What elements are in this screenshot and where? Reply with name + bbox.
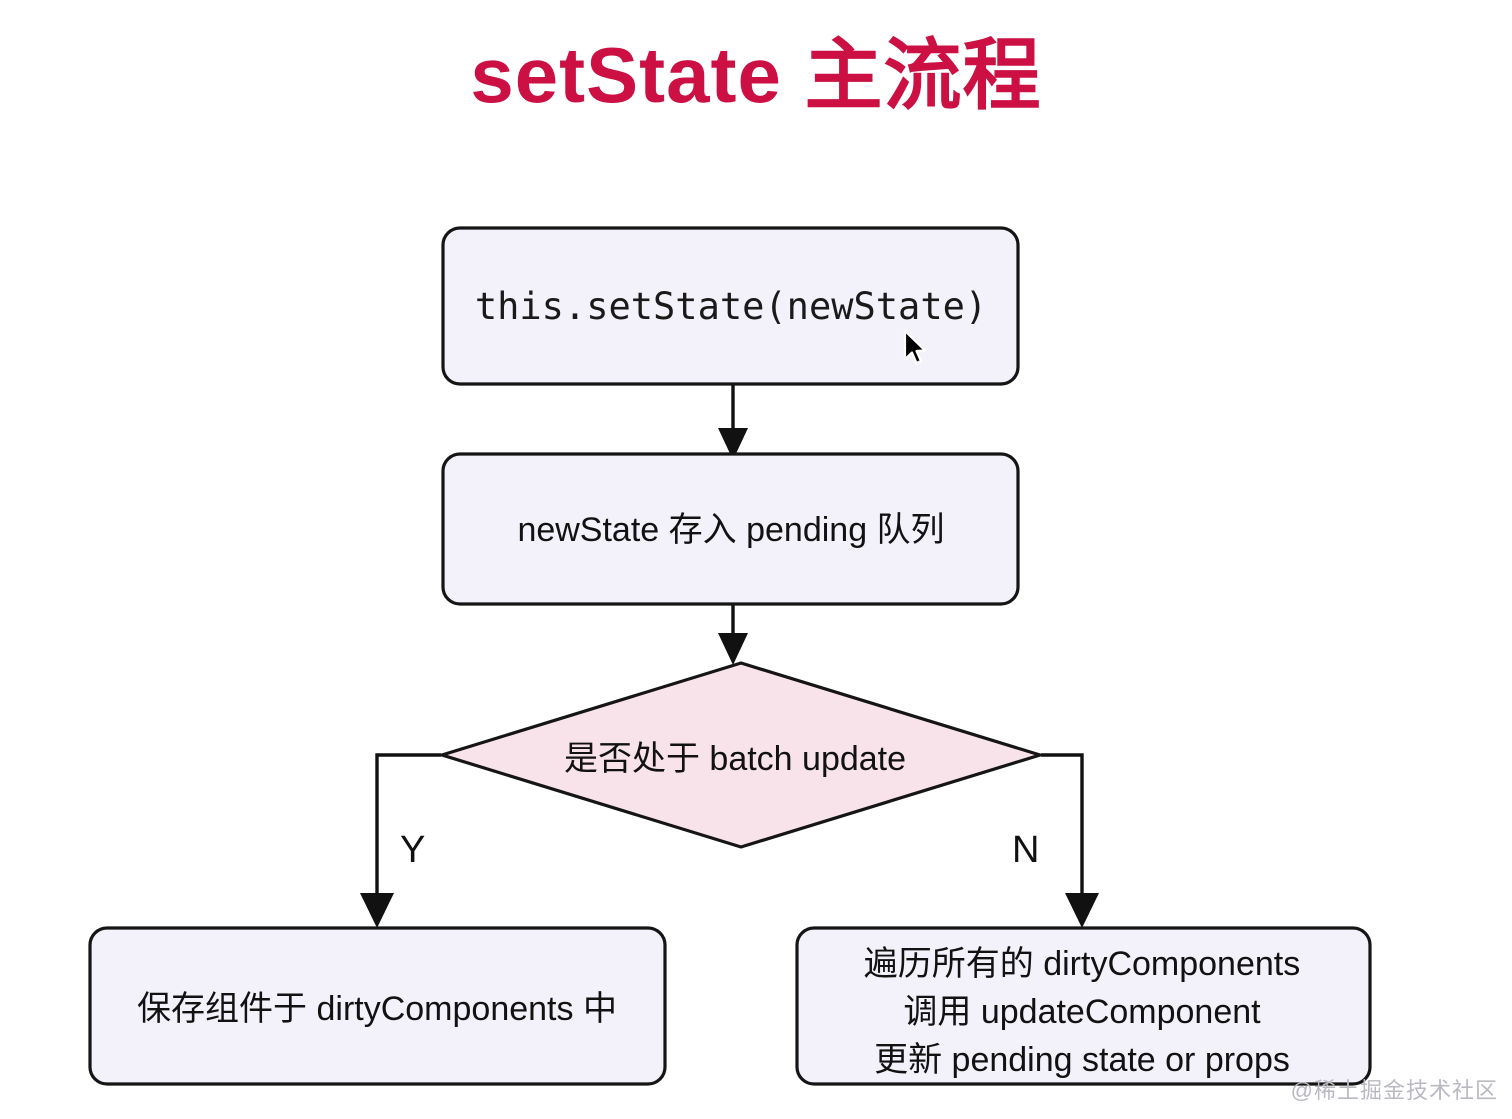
mouse-pointer-icon — [903, 330, 929, 368]
node-update-components-line1: 遍历所有的 dirtyComponents — [864, 945, 1300, 983]
node-batch-update-decision-label: 是否处于 batch update — [564, 740, 906, 778]
branch-label-no: N — [1012, 829, 1039, 871]
node-batch-update-decision[interactable]: 是否处于 batch update — [442, 663, 1040, 847]
node-set-state[interactable]: this.setState(newState) — [443, 228, 1018, 384]
node-pending-queue-label: newState 存入 pending 队列 — [517, 511, 944, 549]
edge-n1-n2 — [718, 384, 748, 460]
node-update-components-line3: 更新 pending state or props — [874, 1041, 1290, 1079]
edge-n2-n3 — [718, 604, 748, 665]
node-pending-queue[interactable]: newState 存入 pending 队列 — [443, 454, 1018, 604]
flowchart-canvas: Y N this.setState(newState) newState 存入 … — [0, 0, 1512, 1119]
node-save-dirty-components[interactable]: 保存组件于 dirtyComponents 中 — [90, 928, 665, 1084]
node-set-state-label: this.setState(newState) — [475, 285, 987, 328]
flowchart-page: setState 主流程 Y N this.setState(newState) — [0, 0, 1512, 1119]
node-save-dirty-components-label: 保存组件于 dirtyComponents 中 — [137, 990, 617, 1028]
branch-label-yes: Y — [400, 829, 425, 871]
node-update-components-line2: 调用 updateComponent — [903, 993, 1261, 1031]
edge-n3-n5-no — [1041, 755, 1099, 928]
node-update-components[interactable]: 遍历所有的 dirtyComponents 调用 updateComponent… — [797, 928, 1370, 1084]
watermark: @稀土掘金技术社区 — [1291, 1073, 1498, 1105]
